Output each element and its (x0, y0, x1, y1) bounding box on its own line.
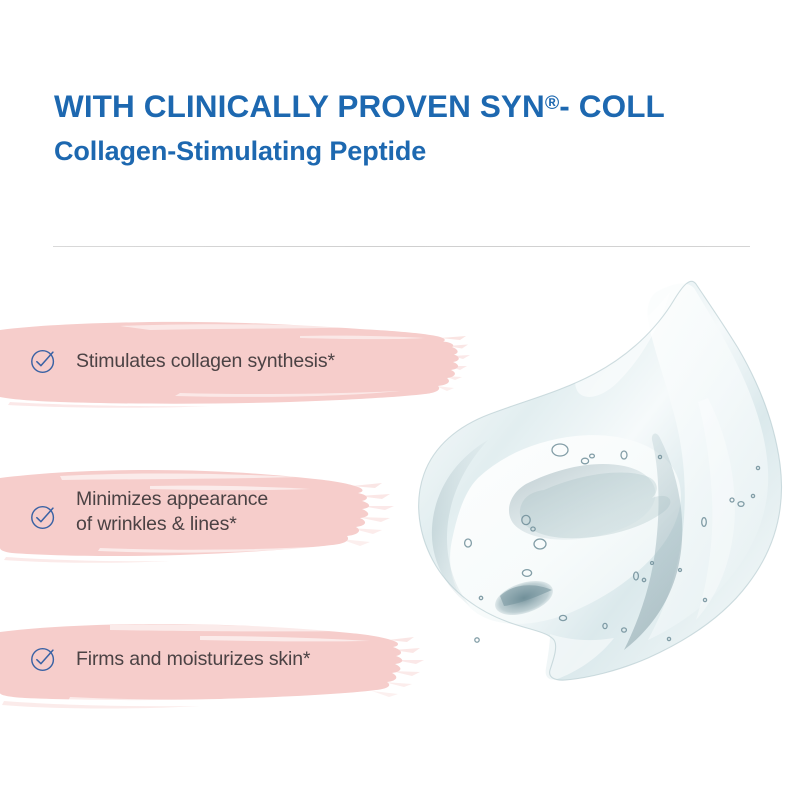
check-circle-icon (30, 348, 57, 375)
promo-graphic: WITH CLINICALLY PROVEN SYN®- COLL Collag… (0, 0, 800, 800)
benefit-item-3: Firms and moisturizes skin* (0, 617, 430, 717)
benefit-label: Minimizes appearance of wrinkles & lines… (76, 487, 268, 537)
check-circle-icon (30, 504, 57, 531)
gel-swatch-image (408, 278, 800, 698)
check-circle-icon (30, 646, 57, 673)
benefit-label: Firms and moisturizes skin* (76, 647, 310, 672)
benefit-item-1: Stimulates collagen synthesis* (0, 316, 470, 408)
benefit-label: Stimulates collagen synthesis* (76, 349, 335, 374)
benefit-item-2: Minimizes appearance of wrinkles & lines… (0, 462, 400, 574)
